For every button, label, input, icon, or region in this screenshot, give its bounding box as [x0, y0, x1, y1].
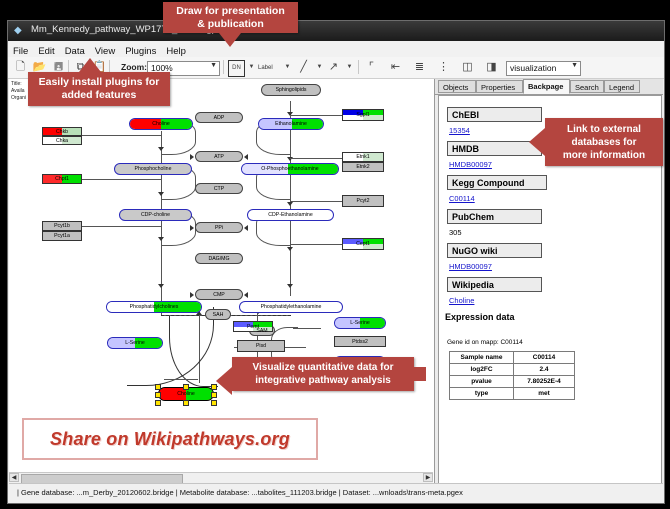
zoom-label: Zoom: — [121, 62, 147, 72]
tab-objects[interactable]: Objects — [438, 80, 476, 93]
side-panel-tabs: Objects Properties Backpage Search Legen… — [435, 79, 663, 95]
selection-handle[interactable] — [155, 384, 161, 390]
node-label: Phosphatidylethanolamine — [261, 304, 322, 310]
visualization-value: visualization — [510, 63, 556, 73]
node-label: Etnk1 — [356, 154, 369, 160]
callout-link-arrow — [529, 128, 545, 156]
arrow-icon — [244, 225, 248, 231]
metabolite-node-cdp-ethanolamine[interactable]: CDP-Ethanolamine — [247, 209, 334, 221]
metabolite-node-ethanolamine[interactable]: Ethanolamine — [258, 118, 324, 130]
table-row: log2FC 2.4 — [450, 364, 575, 376]
edge-curve — [161, 136, 196, 155]
same-height-icon[interactable]: ◨ — [484, 60, 499, 75]
edge-curve — [161, 181, 196, 200]
cell-key: pvalue — [450, 376, 514, 388]
gene-node-pisd[interactable]: Pisd — [237, 340, 285, 352]
align-left-icon[interactable]: ⇤ — [388, 60, 403, 75]
tab-properties[interactable]: Properties — [476, 80, 523, 93]
pathway-info: Title: Availa Organi — [11, 81, 26, 102]
callout-link-line1: Link to external — [567, 123, 641, 136]
edge — [82, 179, 161, 180]
visualization-combo[interactable]: visualization ▼ — [506, 61, 581, 76]
node-label: PPi — [215, 225, 223, 231]
gene-node-etnk1[interactable]: Etnk1 — [342, 152, 384, 162]
selection-handle[interactable] — [183, 400, 189, 406]
share-banner: Share on Wikipathways.org — [22, 418, 318, 460]
gene-node-pcyt1a[interactable]: Pcyt1a — [42, 231, 82, 241]
cell-value: 7.80252E-4 — [514, 376, 575, 388]
metabolite-node-ctp[interactable]: CTP — [195, 183, 243, 194]
gene-node-sgpl1[interactable]: Sgpl1 — [342, 109, 384, 121]
gene-id-label: Gene id on mapp: C00114 — [447, 339, 523, 346]
edge — [290, 115, 342, 116]
tab-backpage[interactable]: Backpage — [523, 79, 570, 94]
gene-node-ptdss2[interactable]: Ptdss2 — [334, 336, 386, 347]
callout-link-line3: more information — [563, 149, 645, 162]
chevron-down-icon[interactable]: ▼ — [312, 60, 327, 75]
metabolite-node-ppi[interactable]: PPi — [195, 222, 243, 233]
node-label: CDP-choline — [141, 212, 170, 218]
node-label: L-Serine — [350, 320, 370, 326]
scroll-left-icon[interactable]: ◀ — [9, 473, 19, 482]
node-label: CMP — [213, 292, 225, 298]
edge — [290, 201, 342, 202]
node-label: Choline — [152, 121, 170, 127]
selection-handle[interactable] — [183, 384, 189, 390]
cell-key: Sample name — [450, 352, 514, 364]
node-label: Pcyt1a — [54, 233, 70, 239]
menubar: FileEditDataViewPluginsHelp — [8, 41, 664, 58]
chevron-down-icon[interactable]: ▼ — [244, 60, 259, 75]
metabolite-node-atp[interactable]: ATP — [195, 151, 243, 162]
scroll-right-icon[interactable]: ▶ — [423, 473, 433, 482]
distribute-horizontal-icon[interactable]: ⋮ — [436, 60, 451, 75]
gene-node-pcyt2[interactable]: Pcyt2 — [342, 195, 384, 207]
node-label: Ptdss2 — [352, 339, 368, 345]
node-label: Pcyt1b — [54, 223, 70, 229]
node-label: ADP — [214, 115, 225, 121]
db-link-wikipedia[interactable]: Choline — [449, 296, 474, 305]
node-label: Pisd — [256, 343, 266, 349]
gene-node-chka[interactable]: Chka — [42, 136, 82, 145]
callout-plugins: Easily install plugins for added feature… — [28, 72, 170, 106]
cell-key: log2FC — [450, 364, 514, 376]
screenshot-root: ◆ Mm_Kennedy_pathway_WP1771_45176.gpml F… — [0, 0, 670, 509]
db-link-nugo[interactable]: HMDB00097 — [449, 262, 492, 271]
metabolite-node-lserine-left[interactable]: L-Serine — [107, 337, 163, 349]
same-width-icon[interactable]: ◫ — [460, 60, 475, 75]
edge — [164, 379, 198, 380]
callout-link: Link to external databases for more info… — [545, 118, 663, 166]
table-row: pvalue 7.80252E-4 — [450, 376, 575, 388]
node-label: Cept1 — [356, 241, 370, 247]
anchor-tool-icon[interactable]: ↗ — [326, 60, 341, 75]
arrow-icon — [190, 292, 194, 298]
callout-visualize-arrow — [216, 367, 232, 395]
metabolite-node-o-phosphoethanolamine[interactable]: O-Phosphoethanolamine — [241, 163, 339, 175]
callout-draw: Draw for presentation & publication — [163, 2, 298, 33]
pathway-info-organism: Organi — [11, 95, 26, 102]
callout-visualize-tail — [414, 367, 426, 381]
edge — [290, 244, 342, 245]
gene-node-chkb[interactable]: Chkb — [42, 127, 82, 136]
table-row: Sample name C00114 — [450, 352, 575, 364]
node-label: Phosphatidylcholines — [130, 304, 179, 310]
metabolite-node-sah[interactable]: SAH — [205, 309, 231, 320]
align-top-icon[interactable]: ⌜ — [364, 60, 379, 75]
db-header-wikipedia: Wikipedia — [447, 277, 542, 292]
node-label: L-Serine — [125, 340, 145, 346]
metabolite-node-phosphatidylethanolamine[interactable]: Phosphatidylethanolamine — [239, 301, 343, 313]
gene-node-pcyt1b[interactable]: Pcyt1b — [42, 221, 82, 231]
arrow-icon — [190, 154, 194, 160]
pathway-info-availability: Availa — [11, 88, 26, 95]
db-header-pubchem: PubChem — [447, 209, 542, 224]
metabolite-node-dagmg[interactable]: DAG/MG — [195, 253, 243, 264]
metabolite-node-phosphocholine[interactable]: Phosphocholine — [114, 163, 192, 175]
arrow-icon — [287, 247, 293, 251]
node-label: Etnk2 — [356, 164, 369, 170]
statusbar: | Gene database: ...m_Derby_20120602.bri… — [9, 483, 663, 502]
callout-plugins-line1: Easily install plugins for — [39, 76, 160, 89]
tab-search[interactable]: Search — [570, 80, 604, 93]
selection-handle[interactable] — [211, 400, 217, 406]
cell-value: 2.4 — [514, 364, 575, 376]
edge-curve — [256, 136, 291, 155]
metabolite-node-cdp-choline[interactable]: CDP-choline — [119, 209, 192, 221]
node-label: Sphingolipids — [276, 87, 307, 93]
label-tool-caption: Label — [258, 65, 273, 71]
gene-node-chpt1[interactable]: Chpt1 — [42, 174, 82, 184]
callout-draw-arrow — [219, 33, 241, 47]
status-text: | Gene database: ...m_Derby_20120602.bri… — [17, 488, 463, 497]
table-row: type met — [450, 388, 575, 400]
node-label: CDP-Ethanolamine — [268, 212, 312, 218]
arrow-icon — [190, 225, 194, 231]
db-header-kegg-compound: Kegg Compound — [447, 175, 547, 190]
metabolite-node-adp[interactable]: ADP — [195, 112, 243, 123]
expression-data-heading: Expression data — [445, 312, 515, 322]
selection-handle[interactable] — [155, 400, 161, 406]
gene-node-cept1[interactable]: Cept1 — [342, 238, 384, 250]
edge-curve — [256, 227, 291, 246]
arrow-icon — [287, 284, 293, 288]
edge — [82, 226, 161, 227]
app-icon: ◆ — [14, 25, 26, 37]
arrow-icon — [287, 202, 293, 206]
line-tool-icon[interactable]: ╱ — [296, 60, 311, 75]
db-link-hmdb[interactable]: HMDB00097 — [449, 160, 492, 169]
cell-key: type — [450, 388, 514, 400]
db-header-chebi: ChEBI — [447, 107, 542, 122]
toolbar-separator — [223, 60, 224, 74]
node-label: SAH — [213, 312, 224, 318]
db-header-hmdb: HMDB — [447, 141, 542, 156]
node-label: Pcyt2 — [357, 198, 370, 204]
node-label: Choline — [177, 391, 195, 397]
pathway-info-title: Title: — [11, 81, 26, 88]
db-header-nugo-wiki: NuGO wiki — [447, 243, 542, 258]
db-value-pubchem: 305 — [449, 228, 462, 237]
node-label: CTP — [214, 186, 224, 192]
share-banner-text: Share on Wikipathways.org — [50, 429, 290, 450]
db-link-kegg[interactable]: C00114 — [449, 194, 475, 203]
selection-handle[interactable] — [155, 392, 161, 398]
node-label: Ethanolamine — [275, 121, 307, 127]
chevron-down-icon: ▼ — [571, 62, 578, 69]
node-label: Phosphocholine — [135, 166, 172, 172]
expression-table: Sample name C00114 log2FC 2.4 pvalue 7.8… — [449, 351, 575, 400]
node-label: O-Phosphoethanolamine — [261, 166, 318, 172]
chevron-down-icon[interactable]: ▼ — [280, 60, 295, 75]
new-file-icon[interactable]: 🗋 — [13, 60, 28, 75]
window-titlebar: ◆ Mm_Kennedy_pathway_WP1771_45176.gpml — [8, 21, 664, 42]
metabolite-node-sphingolipids[interactable]: Sphingolipids — [261, 84, 321, 96]
datanode-icon[interactable]: DN — [228, 60, 245, 77]
canvas-hscrollbar[interactable]: ◀ ▶ — [9, 472, 433, 483]
node-label: DAG/MG — [208, 256, 229, 262]
tab-legend[interactable]: Legend — [604, 80, 640, 93]
callout-visualize-line1: Visualize quantitative data for — [253, 361, 394, 374]
callout-plugins-line2: added features — [62, 89, 137, 102]
edge — [82, 135, 161, 136]
cell-value: met — [514, 388, 575, 400]
callout-visualize-line2: integrative pathway analysis — [255, 374, 391, 387]
callout-draw-line2: & publication — [197, 18, 264, 31]
node-label: Chpt1 — [55, 176, 69, 182]
arrow-icon — [158, 284, 164, 288]
callout-visualize: Visualize quantitative data for integrat… — [232, 357, 414, 391]
node-label: Chkb — [56, 129, 68, 135]
callout-plugins-arrow — [79, 58, 101, 72]
node-label: Pemt — [247, 324, 259, 330]
node-label: Chka — [56, 138, 68, 144]
chevron-down-icon[interactable]: ▼ — [342, 60, 357, 75]
chevron-down-icon: ▼ — [210, 62, 217, 69]
arrow-icon — [244, 292, 248, 298]
edge-curve — [256, 181, 291, 200]
cell-value: C00114 — [514, 352, 575, 364]
callout-link-line2: databases for — [571, 136, 636, 149]
distribute-vertical-icon[interactable]: ≣ — [412, 60, 427, 75]
toolbar-separator — [358, 60, 359, 74]
gene-node-etnk2[interactable]: Etnk2 — [342, 162, 384, 172]
node-label: Sgpl1 — [356, 112, 369, 118]
metabolite-node-cmp[interactable]: CMP — [195, 289, 243, 300]
metabolite-node-choline[interactable]: Choline — [129, 118, 193, 130]
node-label: ATP — [214, 154, 224, 160]
arrow-icon — [244, 154, 248, 160]
metabolite-node-phosphatidylcholines[interactable]: Phosphatidylcholines — [106, 301, 202, 313]
edge — [290, 158, 342, 159]
metabolite-node-lserine-right[interactable]: L-Serine — [334, 317, 386, 329]
db-link-chebi[interactable]: 15354 — [449, 126, 470, 135]
callout-draw-line1: Draw for presentation — [176, 5, 285, 18]
